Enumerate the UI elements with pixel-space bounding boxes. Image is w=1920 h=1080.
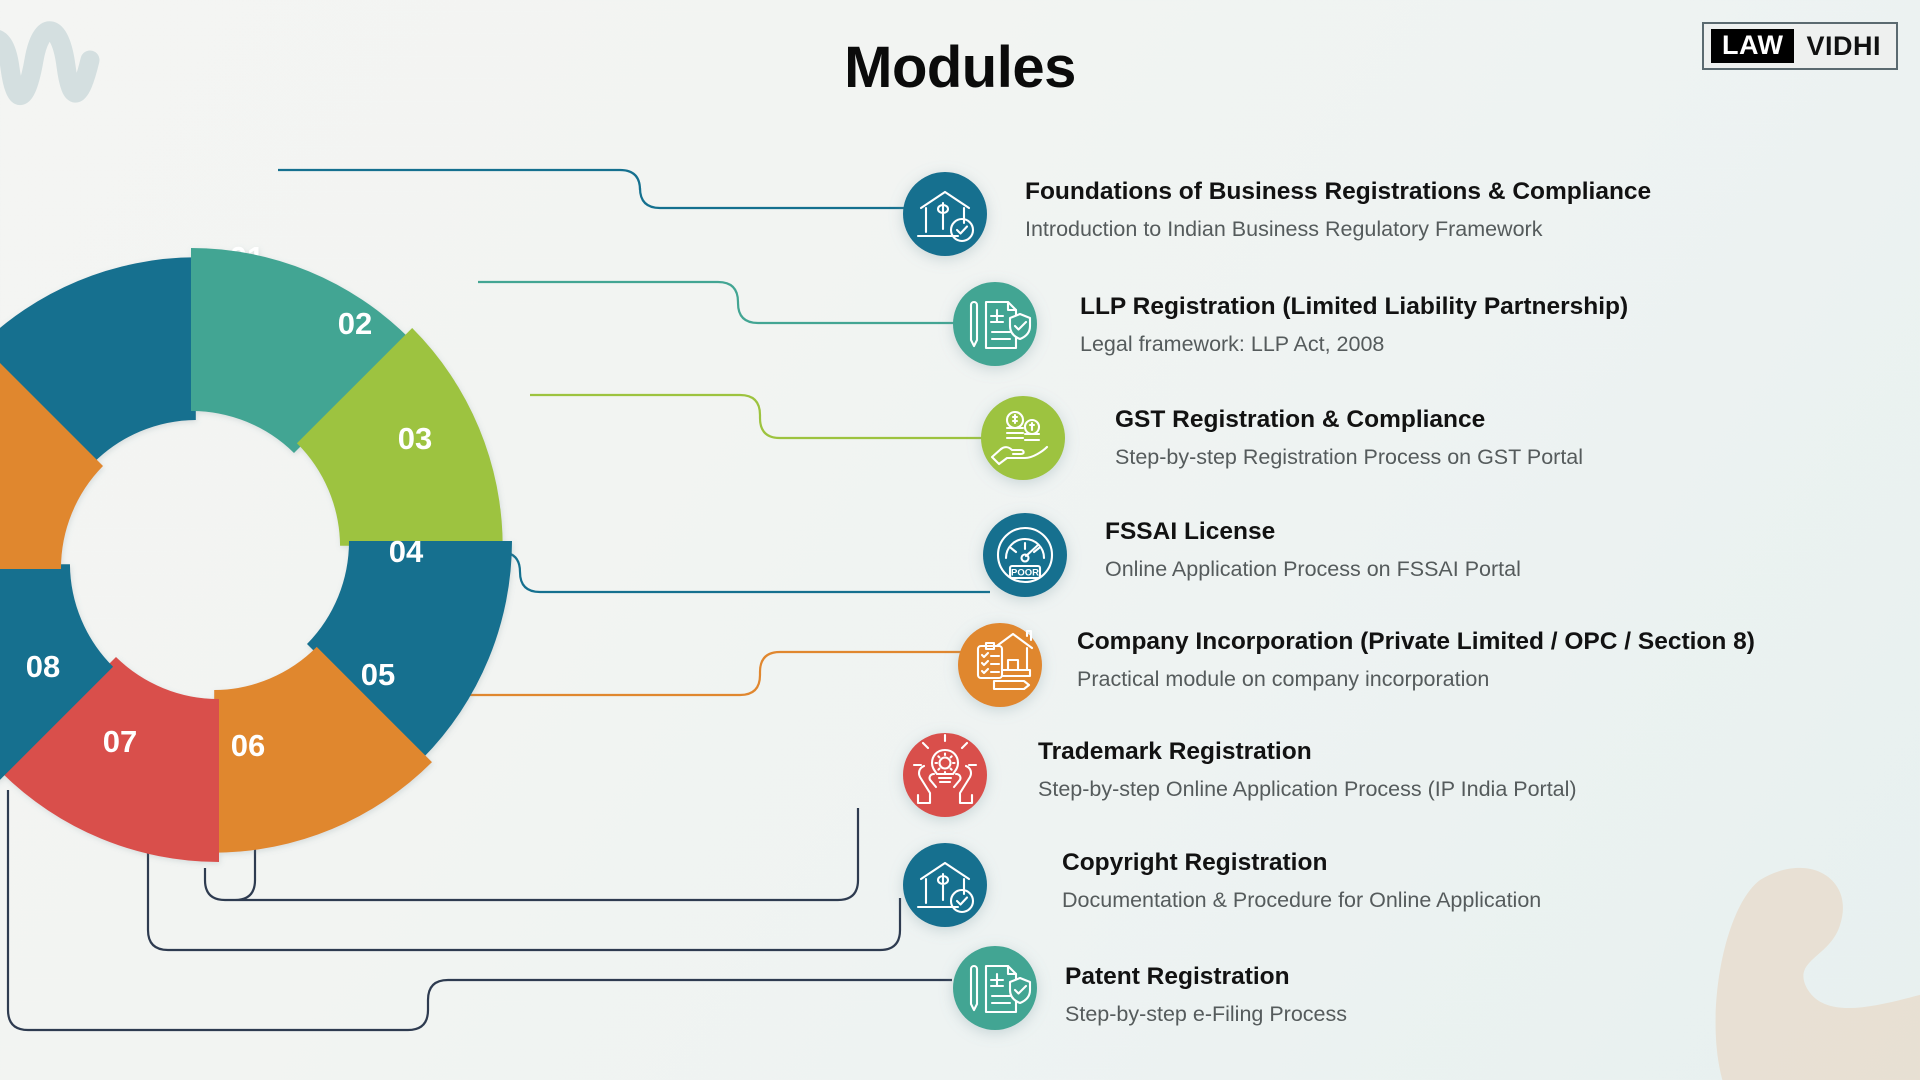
module-subtitle-07: Documentation & Procedure for Online App… <box>1062 888 1541 913</box>
connector-07 <box>148 840 900 950</box>
module-row-05: Company Incorporation (Private Limited /… <box>1077 628 1755 692</box>
module-icon-05[interactable] <box>958 623 1042 707</box>
donut-label-04: 04 <box>389 534 424 569</box>
module-subtitle-05: Practical module on company incorporatio… <box>1077 667 1755 692</box>
module-title-04: FSSAI License <box>1105 518 1521 546</box>
module-icon-03[interactable] <box>981 396 1065 480</box>
donut-label-05: 05 <box>361 657 395 692</box>
module-title-01: Foundations of Business Registrations & … <box>1025 178 1651 206</box>
module-title-08: Patent Registration <box>1065 963 1347 991</box>
module-row-06: Trademark Registration Step-by-step Onli… <box>1038 738 1577 802</box>
connector-03 <box>530 395 988 438</box>
module-subtitle-04: Online Application Process on FSSAI Port… <box>1105 557 1521 582</box>
module-row-04: FSSAI License Online Application Process… <box>1105 518 1521 582</box>
connector-04 <box>470 552 990 592</box>
module-row-08: Patent Registration Step-by-step e-Filin… <box>1065 963 1347 1027</box>
module-icon-06[interactable] <box>903 733 987 817</box>
donut-label-06: 06 <box>231 728 265 763</box>
donut-chart: 01 02 03 04 05 06 07 <box>0 194 566 917</box>
module-subtitle-01: Introduction to Indian Business Regulato… <box>1025 217 1651 242</box>
donut-label-08: 08 <box>26 649 60 684</box>
module-title-06: Trademark Registration <box>1038 738 1577 766</box>
module-icon-02[interactable] <box>953 282 1037 366</box>
module-subtitle-03: Step-by-step Registration Process on GST… <box>1115 445 1583 470</box>
module-title-02: LLP Registration (Limited Liability Part… <box>1080 293 1628 321</box>
module-title-07: Copyright Registration <box>1062 849 1541 877</box>
connector-05 <box>430 652 965 695</box>
module-title-05: Company Incorporation (Private Limited /… <box>1077 628 1755 656</box>
module-row-07: Copyright Registration Documentation & P… <box>1062 849 1541 913</box>
donut-label-07: 07 <box>103 724 137 759</box>
module-row-02: LLP Registration (Limited Liability Part… <box>1080 293 1628 357</box>
donut-label-02: 02 <box>338 306 372 341</box>
svg-text:POOR: POOR <box>1011 568 1039 579</box>
module-icon-07[interactable] <box>903 843 987 927</box>
connector-01 <box>278 170 910 208</box>
module-subtitle-08: Step-by-step e-Filing Process <box>1065 1002 1347 1027</box>
module-icon-04[interactable]: POOR <box>983 513 1067 597</box>
donut-label-03: 03 <box>398 421 432 456</box>
module-row-01: Foundations of Business Registrations & … <box>1025 178 1651 242</box>
modules-diagram: 01 02 03 04 05 06 07 <box>0 0 1920 1080</box>
connector-02 <box>478 282 960 323</box>
module-row-03: GST Registration & Compliance Step-by-st… <box>1115 406 1583 470</box>
module-icon-01[interactable] <box>903 172 987 256</box>
module-icon-08[interactable] <box>953 946 1037 1030</box>
module-subtitle-06: Step-by-step Online Application Process … <box>1038 777 1577 802</box>
module-subtitle-02: Legal framework: LLP Act, 2008 <box>1080 332 1628 357</box>
module-title-03: GST Registration & Compliance <box>1115 406 1583 434</box>
